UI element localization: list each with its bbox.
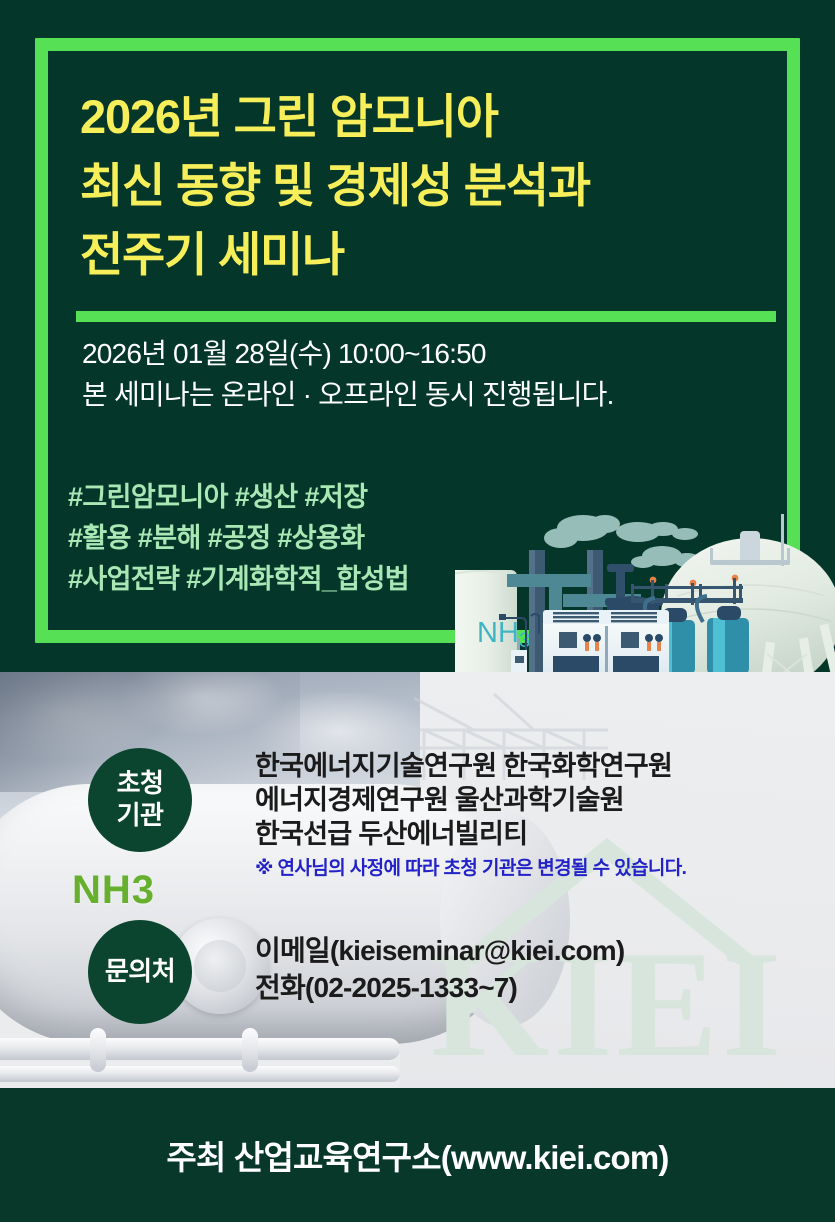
invited-change-note: ※ 연사님의 사정에 따라 초청 기관은 변경될 수 있습니다.: [255, 857, 815, 882]
title-line-1: 2026년 그린 암모니아: [80, 82, 770, 151]
seminar-poster: 2026년 그린 암모니아 최신 동향 및 경제성 분석과 전주기 세미나 20…: [0, 0, 835, 1222]
footer-organizer: 주최 산업교육연구소(www.kiei.com): [166, 1131, 668, 1179]
badge-contact: 문의처: [88, 920, 192, 1024]
photo-pipe-group: [0, 1028, 410, 1088]
contact-email: 이메일(kieiseminar@kiei.com): [255, 932, 815, 969]
contact-phone: 전화(02-2025-1333~7): [255, 969, 815, 1006]
illustration-nh3-label: NH3: [477, 617, 531, 652]
invited-organizations-block: 한국에너지기술연구원 한국화학연구원 에너지경제연구원 울산과학기술원 한국선급…: [255, 749, 815, 882]
top-panel: 2026년 그린 암모니아 최신 동향 및 경제성 분석과 전주기 세미나 20…: [0, 0, 835, 672]
footer-bar: 주최 산업교육연구소(www.kiei.com): [0, 1088, 835, 1222]
contact-block: 이메일(kieiseminar@kiei.com) 전화(02-2025-133…: [255, 932, 815, 1006]
title-line-3: 전주기 세미나: [80, 220, 770, 289]
badge-invited-line-1: 초청: [117, 768, 164, 800]
org-line-1: 한국에너지기술연구원 한국화학연구원: [255, 749, 815, 783]
photo-nh3-label: NH3: [72, 868, 155, 913]
schedule-block: 2026년 01월 28일(수) 10:00~16:50 본 세미나는 온라인 …: [82, 334, 772, 415]
badge-invited-organizations: 초청 기관: [88, 748, 192, 852]
org-line-3: 한국선급 두산에너빌리티: [255, 817, 815, 851]
title-divider: [76, 311, 776, 322]
badge-contact-label: 문의처: [105, 956, 175, 988]
title-line-2: 최신 동향 및 경제성 분석과: [80, 151, 770, 220]
org-line-2: 에너지경제연구원 울산과학기술원: [255, 783, 815, 817]
schedule-datetime: 2026년 01월 28일(수) 10:00~16:50: [82, 334, 772, 375]
ammonia-plant-illustration: NH3: [455, 498, 835, 672]
schedule-format-note: 본 세미나는 온라인 · 오프라인 동시 진행됩니다.: [82, 375, 772, 416]
badge-invited-line-2: 기관: [117, 800, 164, 832]
page-title: 2026년 그린 암모니아 최신 동향 및 경제성 분석과 전주기 세미나: [80, 82, 770, 289]
smoke-cloud-icon: [544, 515, 700, 568]
